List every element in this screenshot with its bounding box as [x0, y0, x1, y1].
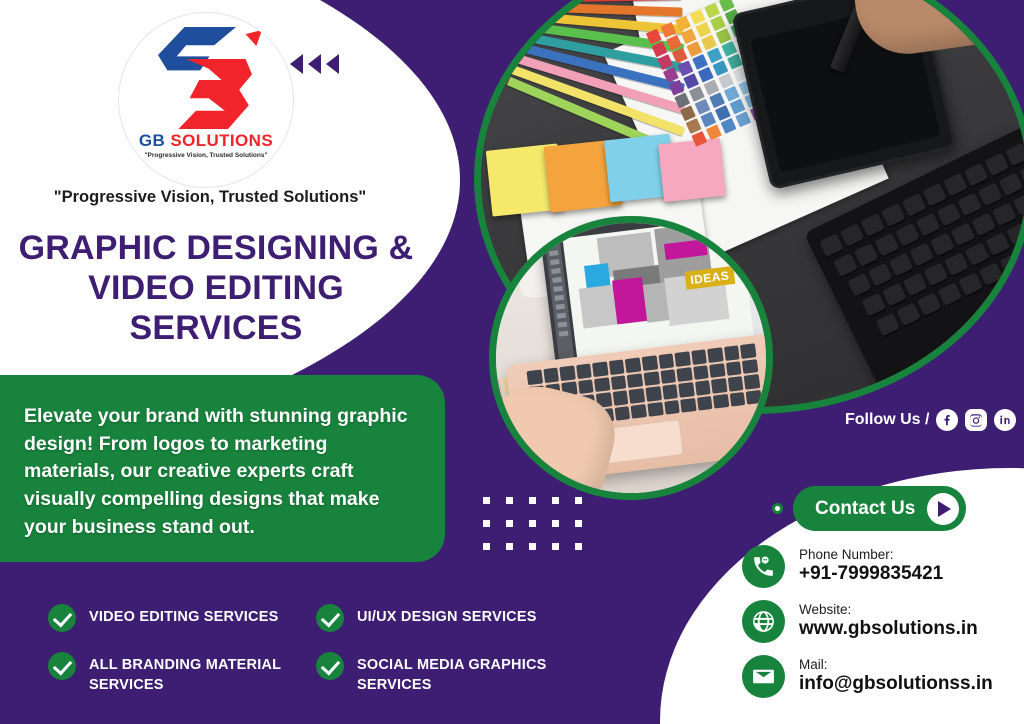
services-list: VIDEO EDITING SERVICES UI/UX DESIGN SERV… [48, 604, 608, 695]
service-item-video-editing: VIDEO EDITING SERVICES [48, 604, 316, 632]
company-logo: GB SOLUTIONS "Progressive Vision, Truste… [118, 12, 294, 188]
description-text: Elevate your brand with stunning graphic… [24, 403, 411, 541]
headline-line-1: GRAPHIC DESIGNING & [0, 228, 432, 268]
phone-icon [742, 545, 785, 588]
check-icon [48, 604, 76, 632]
contact-value: www.gbsolutions.in [799, 618, 978, 641]
service-item-social-media: SOCIAL MEDIA GRAPHICS SERVICES [316, 652, 578, 695]
page-title: GRAPHIC DESIGNING & VIDEO EDITING SERVIC… [0, 228, 432, 348]
logo-wordmark: GB SOLUTIONS [139, 131, 273, 151]
contact-label: Mail: [799, 657, 993, 673]
description-card: Elevate your brand with stunning graphic… [0, 375, 445, 562]
contact-label: Phone Number: [799, 547, 943, 563]
contact-row-phone[interactable]: Phone Number: +91-7999835421 [742, 545, 993, 588]
logo-wordmark-gb: GB [139, 131, 165, 150]
check-icon [316, 652, 344, 680]
sticky-note-pink [658, 138, 726, 202]
logo-subtitle: "Progressive Vision, Trusted Solutions" [144, 152, 267, 159]
contact-details: Phone Number: +91-7999835421 Website: ww… [742, 545, 993, 698]
contact-row-website[interactable]: Website: www.gbsolutions.in [742, 600, 993, 643]
dot-grid-decoration [483, 497, 582, 550]
logo-arrow-icon [230, 25, 264, 59]
flyer-canvas: IDEAS [0, 0, 1024, 724]
headline-line-3: SERVICES [0, 308, 432, 348]
service-item-branding: ALL BRANDING MATERIAL SERVICES [48, 652, 316, 695]
service-label: UI/UX DESIGN SERVICES [357, 604, 537, 628]
follow-us-label: Follow Us / [845, 411, 929, 429]
laptop-design-photo: IDEAS [489, 216, 773, 500]
triangle-arrows-icon [290, 54, 339, 74]
contact-us-label: Contact Us [815, 498, 915, 520]
service-label: SOCIAL MEDIA GRAPHICS SERVICES [357, 652, 578, 695]
linkedin-icon[interactable] [994, 409, 1016, 431]
mail-icon [742, 655, 785, 698]
logo-wordmark-solutions: SOLUTIONS [170, 131, 273, 150]
service-item-uiux: UI/UX DESIGN SERVICES [316, 604, 578, 632]
follow-us-block: Follow Us / [845, 409, 1016, 431]
contact-us-button[interactable]: Contact Us [793, 486, 966, 531]
facebook-icon[interactable] [936, 409, 958, 431]
arrow-right-icon [927, 493, 959, 525]
contact-row-mail[interactable]: Mail: info@gbsolutionss.in [742, 655, 993, 698]
service-label: VIDEO EDITING SERVICES [89, 604, 278, 628]
cta-bullet-dot [772, 503, 783, 514]
contact-label: Website: [799, 602, 978, 618]
contact-value: info@gbsolutionss.in [799, 673, 993, 696]
brand-tagline: "Progressive Vision, Trusted Solutions" [0, 188, 420, 207]
instagram-icon[interactable] [965, 409, 987, 431]
logo-mark [152, 25, 260, 129]
contact-value: +91-7999835421 [799, 563, 943, 586]
service-label: ALL BRANDING MATERIAL SERVICES [89, 652, 316, 695]
check-icon [316, 604, 344, 632]
headline-line-2: VIDEO EDITING [0, 268, 432, 308]
globe-icon [742, 600, 785, 643]
check-icon [48, 652, 76, 680]
